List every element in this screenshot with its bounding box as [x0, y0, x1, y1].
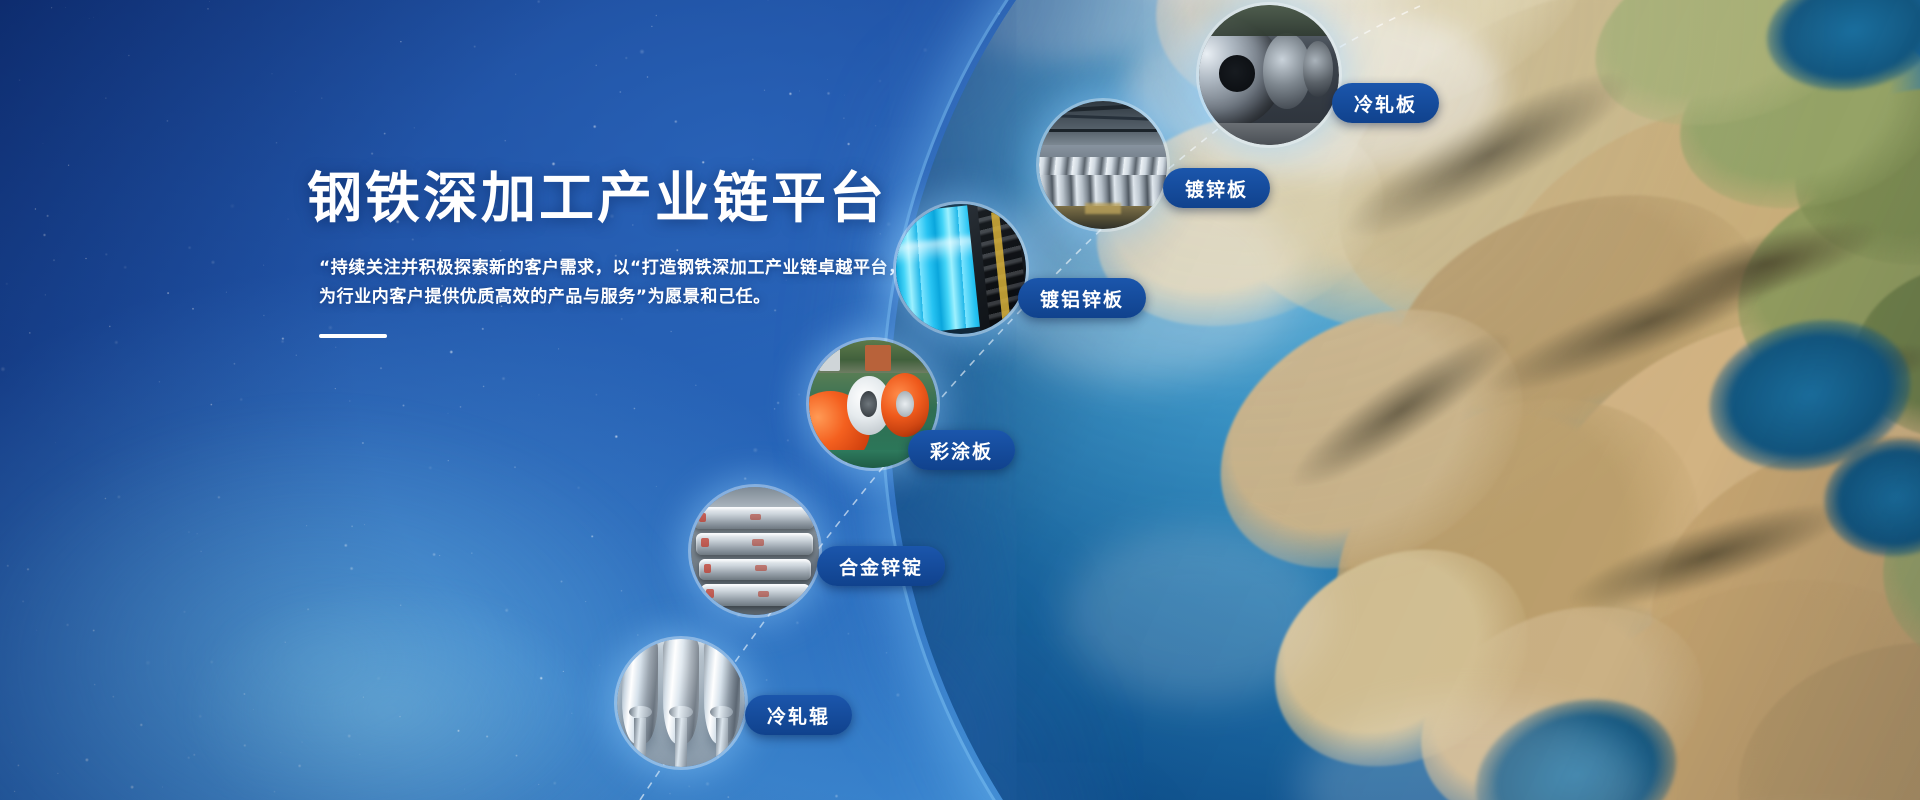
product-thumbnail[interactable]: [617, 639, 745, 767]
page-title: 钢铁深加工产业链平台: [307, 170, 927, 228]
product-thumbnail[interactable]: [1199, 5, 1339, 145]
hero-copy: 钢铁深加工产业链平台 “持续关注并积极探索新的客户需求，以“打造钢铁深加工产业链…: [307, 170, 927, 338]
title-divider: [319, 334, 387, 338]
hero-subtitle: “持续关注并积极探索新的客户需求，以“打造钢铁深加工产业链卓越平台， 为行业内客…: [319, 254, 927, 312]
product-thumbnail[interactable]: [691, 487, 819, 615]
product-label-cold-rolling-roll[interactable]: 冷轧辊: [745, 695, 852, 735]
product-label-color-coated-sheet[interactable]: 彩涂板: [908, 430, 1015, 470]
product-thumbnail[interactable]: [1039, 101, 1167, 229]
hero-subtitle-line-2: 为行业内客户提供优质高效的产品与服务”为愿景和己任。: [319, 283, 927, 312]
hero-banner: 钢铁深加工产业链平台 “持续关注并积极探索新的客户需求，以“打造钢铁深加工产业链…: [0, 0, 1920, 800]
product-label-cold-rolled-sheet[interactable]: 冷轧板: [1332, 83, 1439, 123]
hero-subtitle-line-1: “持续关注并积极探索新的客户需求，以“打造钢铁深加工产业链卓越平台，: [319, 258, 906, 278]
product-label-aluzinc-sheet[interactable]: 镀铝锌板: [1018, 278, 1146, 318]
product-label-zinc-alloy-ingot[interactable]: 合金锌锭: [817, 546, 945, 586]
product-label-galvanized-sheet[interactable]: 镀锌板: [1163, 168, 1270, 208]
product-thumbnail[interactable]: [896, 204, 1026, 334]
